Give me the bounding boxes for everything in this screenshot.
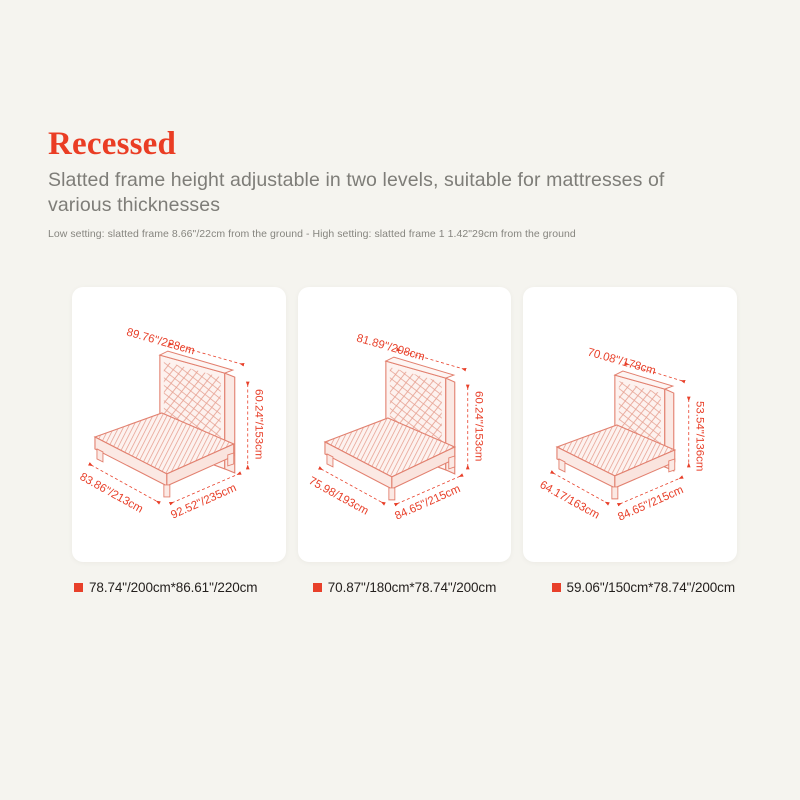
size-caption-label-1: 78.74"/200cm*86.61"/220cm: [89, 580, 257, 595]
size-caption-2: 70.87"/180cm*78.74"/200cm: [313, 580, 496, 595]
dim-bed-depth-3: 64.17/163cm: [538, 479, 602, 522]
infographic-page: Recessed Slatted frame height adjustable…: [0, 0, 800, 800]
dim-bed-width-3: 84.65"/215cm: [617, 484, 686, 524]
size-caption-1: 78.74"/200cm*86.61"/220cm: [74, 580, 257, 595]
dim-bed-depth-2: 75.98/193cm: [306, 475, 370, 518]
bed-diagram-card-1: 89.76"/228cm 60.24"/153cm 83.86"/213cm 9…: [72, 287, 286, 562]
dim-headboard-height-3: 53.54"/136cm: [694, 401, 706, 471]
bed-body-1: [95, 351, 235, 497]
page-subtitle: Slatted frame height adjustable in two l…: [48, 168, 673, 218]
bed-body-3: [557, 371, 675, 499]
dim-bed-width-1: 92.52"/235cm: [169, 482, 238, 522]
bed-isometric-drawing-3: 70.08"/178cm 53.54"/136cm 64.17/163cm 84…: [523, 287, 737, 562]
dim-headboard-width-1: 89.76"/228cm: [125, 326, 196, 357]
dim-headboard-height-2: 60.24"/153cm: [472, 391, 484, 461]
size-caption-label-3: 59.06"/150cm*78.74"/200cm: [567, 580, 735, 595]
dim-bed-width-2: 84.65"/215cm: [393, 483, 462, 523]
size-caption-label-2: 70.87"/180cm*78.74"/200cm: [328, 580, 496, 595]
size-caption-row: 78.74"/200cm*86.61"/220cm 70.87"/180cm*7…: [72, 580, 737, 595]
size-caption-3: 59.06"/150cm*78.74"/200cm: [552, 580, 735, 595]
page-title: Recessed: [48, 126, 760, 162]
diagram-card-row: 89.76"/228cm 60.24"/153cm 83.86"/213cm 9…: [72, 287, 737, 562]
dim-headboard-height-1: 60.24"/153cm: [253, 389, 265, 459]
bed-diagram-card-3: 70.08"/178cm 53.54"/136cm 64.17/163cm 84…: [523, 287, 737, 562]
bed-diagram-card-2: 81.89"/208cm 60.24"/153cm 75.98/193cm 84…: [298, 287, 512, 562]
square-bullet-icon: [552, 583, 561, 592]
square-bullet-icon: [313, 583, 322, 592]
header: Recessed Slatted frame height adjustable…: [48, 126, 760, 241]
dim-bed-depth-1: 83.86"/213cm: [78, 471, 145, 516]
bed-body-2: [325, 357, 455, 500]
bed-isometric-drawing-2: 81.89"/208cm 60.24"/153cm 75.98/193cm 84…: [298, 287, 512, 562]
bed-isometric-drawing-1: 89.76"/228cm 60.24"/153cm 83.86"/213cm 9…: [72, 287, 286, 562]
height-setting-note: Low setting: slatted frame 8.66"/22cm fr…: [48, 227, 760, 241]
square-bullet-icon: [74, 583, 83, 592]
